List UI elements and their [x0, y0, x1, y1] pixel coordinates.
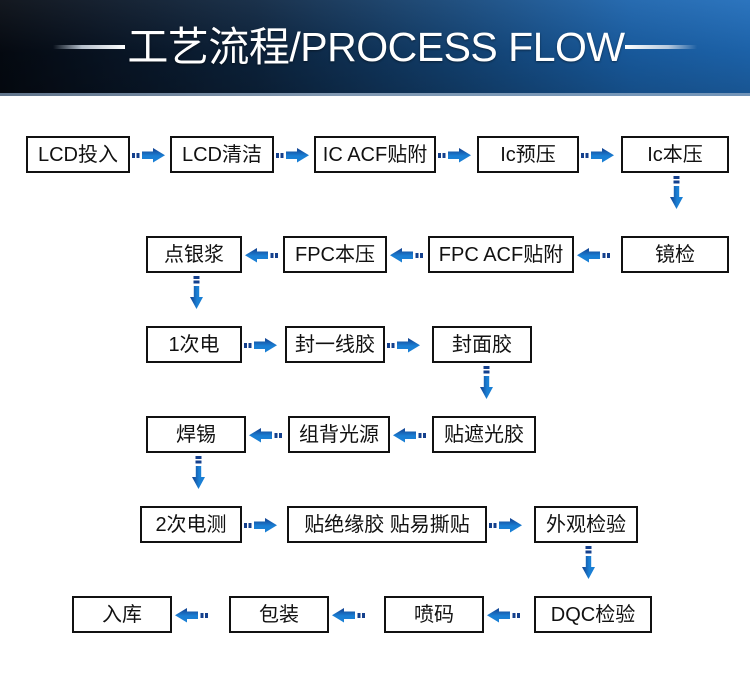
process-step-label: Ic本压: [647, 144, 703, 166]
process-step-box: 镜检: [621, 236, 729, 273]
arrow-left-icon: [576, 246, 610, 264]
page-header-banner: 工艺流程/PROCESS FLOW: [0, 0, 750, 96]
process-step-label: 贴绝缘胶 贴易撕贴: [304, 514, 470, 536]
process-step-box: 封一线胶: [285, 326, 385, 363]
process-step-label: 1次电: [168, 334, 219, 356]
process-step-box: LCD清洁: [170, 136, 274, 173]
arrow-left-icon: [244, 246, 278, 264]
arrow-down-icon: [668, 176, 686, 210]
process-step-label: 封面胶: [452, 334, 512, 356]
process-step-label: 镜检: [655, 244, 695, 266]
arrow-right-icon: [438, 146, 472, 164]
arrow-left-icon: [389, 246, 423, 264]
process-step-label: 组背光源: [299, 424, 379, 446]
header-left-rule-icon: [53, 45, 125, 49]
process-step-box: DQC检验: [534, 596, 652, 633]
process-step-box: 点银浆: [146, 236, 242, 273]
arrow-left-icon: [486, 606, 520, 624]
arrow-down-icon: [478, 366, 496, 400]
process-step-label: 包装: [259, 604, 299, 626]
process-step-box: 喷码: [384, 596, 484, 633]
process-step-box: 1次电: [146, 326, 242, 363]
arrow-left-icon: [248, 426, 282, 444]
process-step-label: LCD清洁: [182, 144, 262, 166]
process-step-label: 入库: [102, 604, 142, 626]
arrow-right-icon: [244, 516, 278, 534]
process-step-label: 贴遮光胶: [444, 424, 524, 446]
arrow-down-icon: [580, 546, 598, 580]
process-step-box: 贴遮光胶: [432, 416, 536, 453]
arrow-left-icon: [331, 606, 365, 624]
arrow-right-icon: [387, 336, 421, 354]
process-step-label: DQC检验: [551, 604, 635, 626]
process-step-label: 喷码: [414, 604, 454, 626]
arrow-right-icon: [581, 146, 615, 164]
process-step-box: IC ACF贴附: [314, 136, 436, 173]
arrow-down-icon: [188, 276, 206, 310]
process-step-box: Ic预压: [477, 136, 579, 173]
process-step-label: LCD投入: [38, 144, 118, 166]
process-step-box: 包装: [229, 596, 329, 633]
process-step-label: FPC ACF贴附: [439, 244, 563, 266]
arrow-right-icon: [132, 146, 166, 164]
arrow-right-icon: [276, 146, 310, 164]
header-right-rule-icon: [625, 45, 697, 49]
arrow-left-icon: [392, 426, 426, 444]
process-step-label: 外观检验: [546, 514, 626, 536]
process-step-box: 焊锡: [146, 416, 246, 453]
arrow-right-icon: [489, 516, 523, 534]
arrow-down-icon: [190, 456, 208, 490]
process-flow-diagram: LCD投入LCD清洁IC ACF贴附Ic预压Ic本压点银浆FPC本压FPC AC…: [0, 96, 750, 676]
process-step-box: 组背光源: [288, 416, 390, 453]
process-step-label: 2次电测: [155, 514, 226, 536]
page-title: 工艺流程/PROCESS FLOW: [127, 23, 624, 71]
process-step-box: 2次电测: [140, 506, 242, 543]
process-step-box: 入库: [72, 596, 172, 633]
arrow-left-icon: [174, 606, 208, 624]
process-step-box: FPC本压: [283, 236, 387, 273]
process-step-label: 点银浆: [164, 244, 224, 266]
header-inner: 工艺流程/PROCESS FLOW: [0, 0, 750, 93]
process-step-box: 封面胶: [432, 326, 532, 363]
process-step-label: FPC本压: [295, 244, 375, 266]
process-step-label: Ic预压: [500, 144, 556, 166]
process-step-label: 焊锡: [176, 424, 216, 446]
process-step-box: 外观检验: [534, 506, 638, 543]
process-step-label: 封一线胶: [295, 334, 375, 356]
arrow-right-icon: [244, 336, 278, 354]
process-step-box: 贴绝缘胶 贴易撕贴: [287, 506, 487, 543]
process-step-box: Ic本压: [621, 136, 729, 173]
process-step-label: IC ACF贴附: [323, 144, 427, 166]
process-step-box: FPC ACF贴附: [428, 236, 574, 273]
process-step-box: LCD投入: [26, 136, 130, 173]
